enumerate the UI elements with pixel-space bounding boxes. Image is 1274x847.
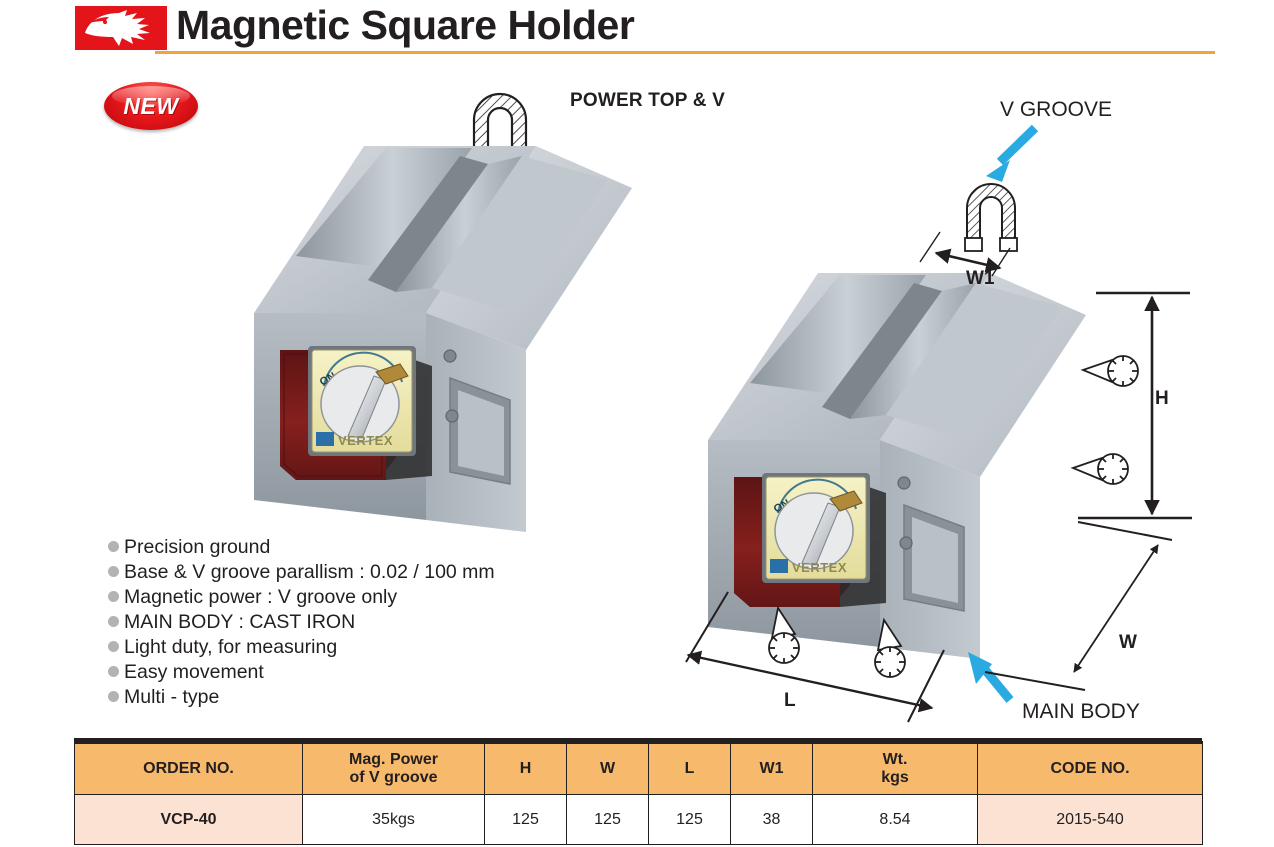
main-body-arrow-icon: [968, 652, 1010, 700]
catalog-page: Magnetic Square Holder NEW POWER TOP & V: [0, 0, 1274, 847]
bullet-icon: [108, 541, 119, 552]
col-header-code-no: CODE NO.: [978, 743, 1203, 795]
feature-list: Precision ground Base & V groove paralli…: [108, 536, 495, 711]
list-item: MAIN BODY : CAST IRON: [108, 611, 495, 636]
bullet-icon: [108, 591, 119, 602]
feature-text: Light duty, for measuring: [124, 636, 337, 659]
magnetic-pole-symbol: [1083, 356, 1138, 386]
power-top-v-label: POWER TOP & V: [570, 90, 725, 112]
table-row: VCP-40 35kgs 125 125 125 38 8.54 2015-54…: [75, 795, 1203, 845]
cell-order-no: VCP-40: [75, 795, 303, 845]
cell-weight: 8.54: [813, 795, 978, 845]
list-item: Precision ground: [108, 536, 495, 561]
mag-power-line2: of V groove: [303, 769, 484, 787]
col-header-w1: W1: [731, 743, 813, 795]
title-underline-rule: [155, 51, 1215, 54]
cell-w1: 38: [731, 795, 813, 845]
dimension-label-w: W: [1119, 632, 1137, 654]
cell-w: 125: [567, 795, 649, 845]
cell-h: 125: [485, 795, 567, 845]
product-photo-right: ON VERTEX: [690, 255, 1090, 659]
col-header-h: H: [485, 743, 567, 795]
feature-text: Multi - type: [124, 686, 219, 709]
col-header-w: W: [567, 743, 649, 795]
new-badge-label: NEW: [123, 93, 178, 120]
cell-mag-power: 35kgs: [303, 795, 485, 845]
svg-text:VERTEX: VERTEX: [792, 560, 847, 575]
dimension-label-w1: W1: [966, 268, 995, 290]
new-badge: NEW: [104, 82, 198, 130]
col-header-weight: Wt. kgs: [813, 743, 978, 795]
feature-text: Base & V groove parallism : 0.02 / 100 m…: [124, 561, 495, 584]
svg-text:VERTEX: VERTEX: [338, 433, 393, 448]
feature-text: Magnetic power : V groove only: [124, 586, 397, 609]
list-item: Magnetic power : V groove only: [108, 586, 495, 611]
list-item: Multi - type: [108, 686, 495, 711]
list-item: Easy movement: [108, 661, 495, 686]
v-groove-label: V GROOVE: [1000, 98, 1112, 122]
page-title: Magnetic Square Holder: [176, 2, 634, 49]
weight-line1: Wt.: [813, 751, 977, 769]
list-item: Light duty, for measuring: [108, 636, 495, 661]
dimension-label-h: H: [1155, 388, 1169, 410]
mag-power-line1: Mag. Power: [303, 751, 484, 769]
list-item: Base & V groove parallism : 0.02 / 100 m…: [108, 561, 495, 586]
horseshoe-magnet-callout-icon: [955, 168, 1027, 256]
table-header-row: ORDER NO. Mag. Power of V groove H W L W…: [75, 743, 1203, 795]
cell-code-no: 2015-540: [978, 795, 1203, 845]
product-photo-left: ON VERTEX: [236, 128, 636, 532]
feature-text: Precision ground: [124, 536, 270, 559]
feature-text: MAIN BODY : CAST IRON: [124, 611, 355, 634]
main-body-label: MAIN BODY: [1022, 700, 1140, 724]
cell-l: 125: [649, 795, 731, 845]
col-header-l: L: [649, 743, 731, 795]
bullet-icon: [108, 566, 119, 577]
bullet-icon: [108, 666, 119, 677]
feature-text: Easy movement: [124, 661, 264, 684]
col-header-mag-power: Mag. Power of V groove: [303, 743, 485, 795]
bullet-icon: [108, 641, 119, 652]
bullet-icon: [108, 616, 119, 627]
dimension-label-l: L: [784, 690, 796, 712]
col-header-order-no: ORDER NO.: [75, 743, 303, 795]
weight-line2: kgs: [813, 769, 977, 787]
specification-table: ORDER NO. Mag. Power of V groove H W L W…: [74, 741, 1203, 845]
bullet-icon: [108, 691, 119, 702]
eagle-head-logo-icon: [75, 6, 167, 50]
dimension-h: [1078, 293, 1192, 518]
